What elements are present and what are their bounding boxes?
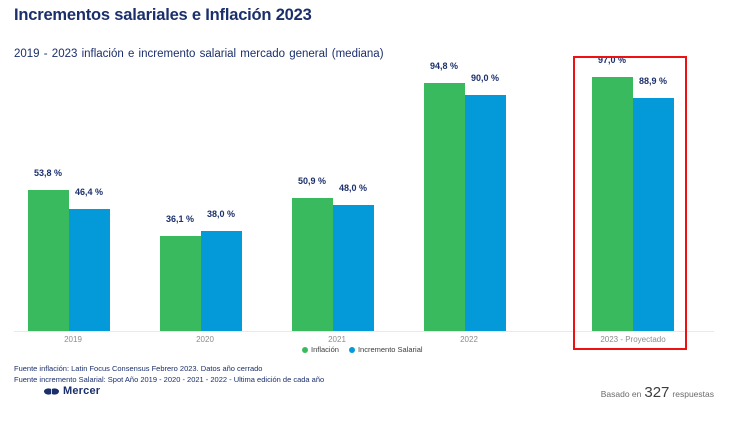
bar-value-incremento-2019: 46,4 % <box>59 187 119 197</box>
bar-value-inflacion-2023: 97,0 % <box>582 55 642 65</box>
axis-label-2021: 2021 <box>278 335 396 344</box>
bar-group-2023-proyectado: 97,0 % 88,9 % <box>578 51 696 331</box>
legend-label-incremento-salarial: Incremento Salarial <box>358 345 423 354</box>
mercer-logo: Mercer <box>44 385 100 397</box>
source-note-inflacion: Fuente inflación: Latin Focus Consensus … <box>14 363 324 374</box>
bar-inflacion-2020[interactable] <box>160 236 201 331</box>
bar-incremento-2019[interactable] <box>69 209 110 331</box>
legend-dot-icon-inflacion <box>302 347 308 353</box>
bar-incremento-2021[interactable] <box>333 205 374 331</box>
axis-label-2023-proyectado: 2023 - Proyectado <box>574 335 692 344</box>
bar-value-incremento-2023: 88,9 % <box>623 76 683 86</box>
bar-value-inflacion-2019: 53,8 % <box>18 168 78 178</box>
bar-incremento-2020[interactable] <box>201 231 242 331</box>
bar-value-incremento-2022: 90,0 % <box>455 73 515 83</box>
axis-label-2020: 2020 <box>146 335 264 344</box>
bar-incremento-2022[interactable] <box>465 95 506 331</box>
respuestas-count: Basado en 327 respuestas <box>601 384 714 401</box>
respuestas-prefix: Basado en <box>601 389 642 399</box>
legend-label-inflacion: Inflación <box>311 345 339 354</box>
bar-group-2022: 94,8 % 90,0 % <box>410 51 528 331</box>
bar-pair: 53,8 % 46,4 % <box>14 51 132 331</box>
bar-incremento-2023[interactable] <box>633 98 674 331</box>
chart-legend: Inflación Incremento Salarial <box>302 345 423 354</box>
bar-inflacion-2019[interactable] <box>28 190 69 331</box>
bar-value-inflacion-2022: 94,8 % <box>414 61 474 71</box>
bar-pair: 36,1 % 38,0 % <box>146 51 264 331</box>
bar-group-2019: 53,8 % 46,4 % <box>14 51 132 331</box>
legend-dot-icon-incremento <box>349 347 355 353</box>
axis-label-2022: 2022 <box>410 335 528 344</box>
bar-group-2021: 50,9 % 48,0 % <box>278 51 396 331</box>
respuestas-suffix: respuestas <box>672 389 714 399</box>
bar-inflacion-2023[interactable] <box>592 77 633 331</box>
bar-pair: 50,9 % 48,0 % <box>278 51 396 331</box>
source-note-incremento: Fuente incremento Salarial: Spot Año 201… <box>14 374 324 385</box>
legend-item-inflacion[interactable]: Inflación <box>302 345 339 354</box>
bar-pair: 94,8 % 90,0 % <box>410 51 528 331</box>
bar-group-2020: 36,1 % 38,0 % <box>146 51 264 331</box>
bar-value-incremento-2021: 48,0 % <box>323 183 383 193</box>
bar-inflacion-2022[interactable] <box>424 83 465 331</box>
mercer-logo-text: Mercer <box>63 385 100 397</box>
bar-chart: 53,8 % 46,4 % 2019 36,1 % 38,0 % 2020 50… <box>0 0 730 421</box>
axis-label-2019: 2019 <box>14 335 132 344</box>
bar-pair: 97,0 % 88,9 % <box>578 51 696 331</box>
respuestas-number: 327 <box>644 384 669 401</box>
bar-inflacion-2021[interactable] <box>292 198 333 331</box>
mercer-mark-icon <box>44 387 59 396</box>
chart-baseline <box>14 331 714 332</box>
bar-value-incremento-2020: 38,0 % <box>191 209 251 219</box>
source-notes: Fuente inflación: Latin Focus Consensus … <box>14 363 324 385</box>
legend-item-incremento-salarial[interactable]: Incremento Salarial <box>349 345 423 354</box>
